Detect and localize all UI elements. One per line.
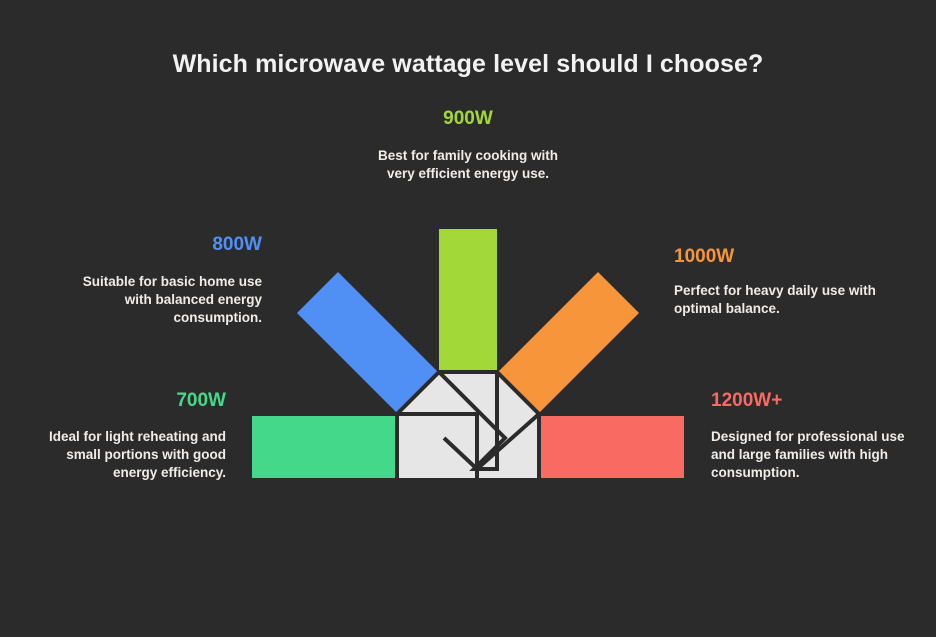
bar-1200w bbox=[539, 416, 684, 478]
bar-700w bbox=[252, 416, 397, 478]
label-1200w: 1200W+ bbox=[711, 390, 931, 412]
infographic-root: Which microwave wattage level should I c… bbox=[0, 0, 936, 637]
label-700w: 700W bbox=[0, 390, 226, 412]
description-700w: Ideal for light reheating and small port… bbox=[26, 428, 226, 482]
description-1200w: Designed for professional use and large … bbox=[711, 428, 911, 482]
label-800w: 800W bbox=[0, 234, 262, 256]
bar-900w bbox=[439, 229, 497, 374]
description-900w: Best for family cooking with very effici… bbox=[368, 147, 568, 183]
label-900w: 900W bbox=[0, 108, 936, 130]
description-1000w: Perfect for heavy daily use with optimal… bbox=[674, 282, 884, 318]
label-1000w: 1000W bbox=[674, 246, 914, 268]
description-800w: Suitable for basic home use with balance… bbox=[62, 273, 262, 327]
